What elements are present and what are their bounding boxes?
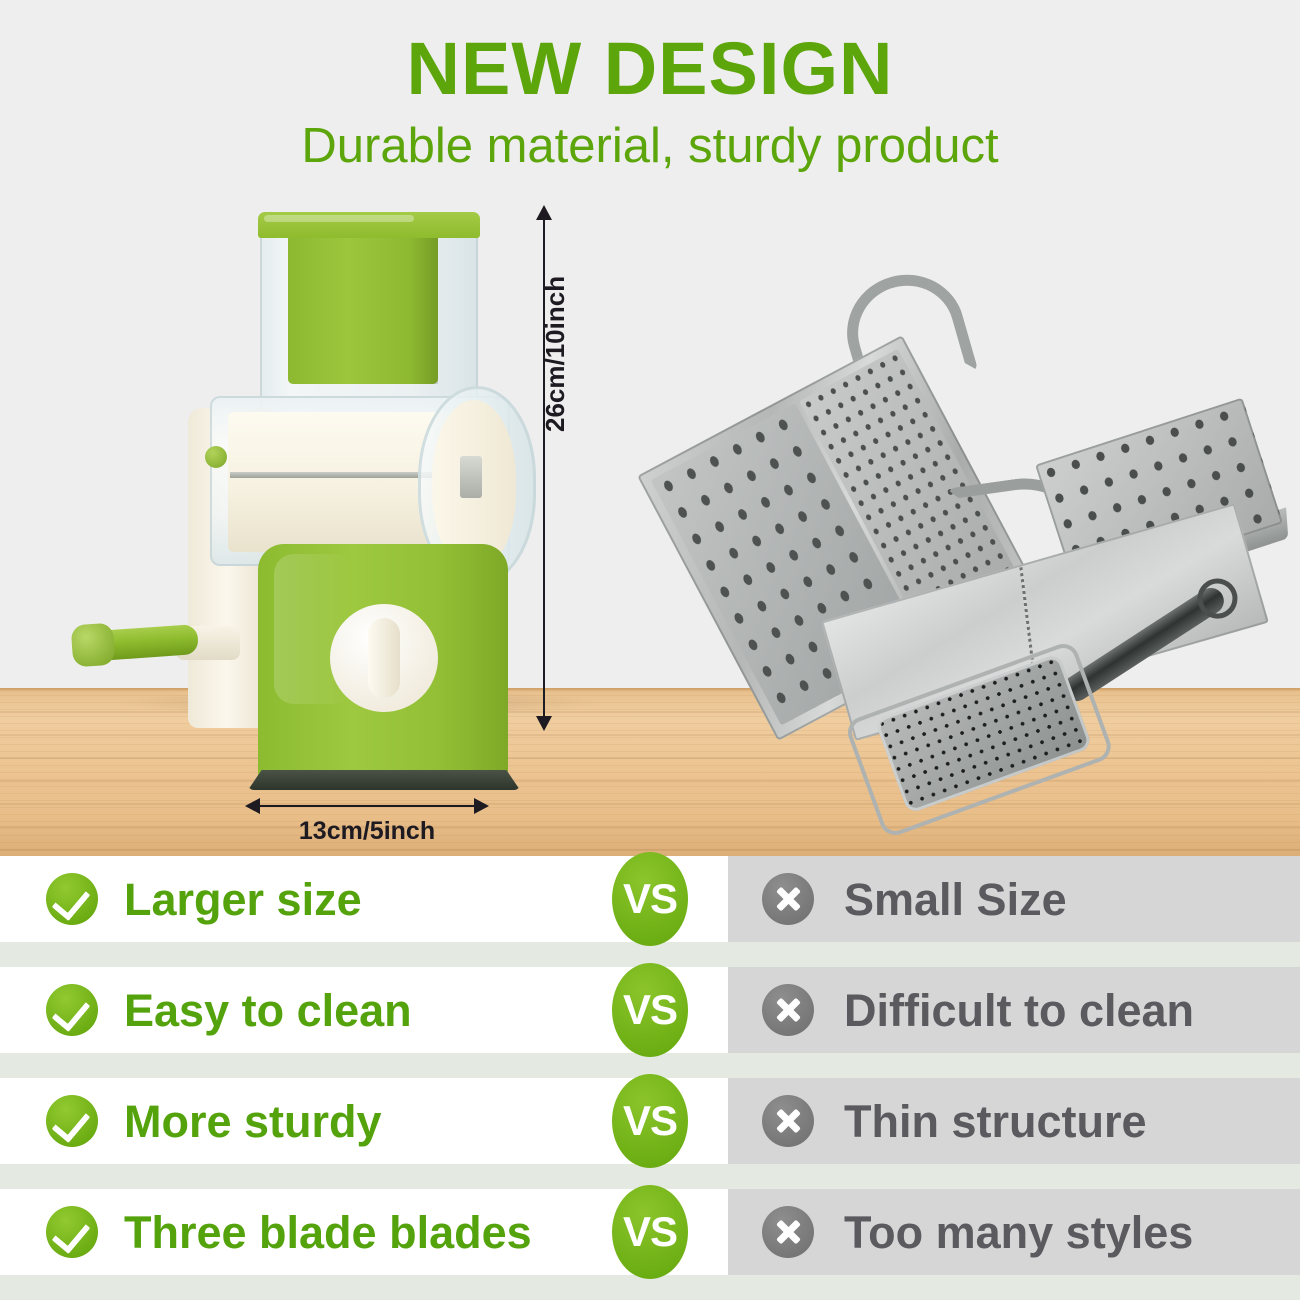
suction-knob-lever [368,618,400,698]
comparison-row-negative: Thin structure [728,1078,1300,1164]
vs-badge: VS [612,1074,688,1168]
comparison-row-negative: Small Size [728,856,1300,942]
comparison-row-negative: Difficult to clean [728,967,1300,1053]
check-icon [46,1206,98,1258]
hero-photo-panel: NEW DESIGN Durable material, sturdy prod… [0,0,1300,856]
positive-feature-label: Larger size [124,877,362,922]
positive-feature-label: More sturdy [124,1099,382,1144]
negative-feature-label: Too many styles [844,1210,1193,1255]
positive-feature-label: Easy to clean [124,988,412,1033]
vs-badge: VS [612,963,688,1057]
hopper-lid [258,212,480,238]
rotary-grater-product [60,200,540,800]
comparison-row: Difficult to cleanEasy to cleanVS [0,967,1300,1053]
page-headline: NEW DESIGN [0,32,1300,106]
crank-handle [71,623,116,668]
check-icon [46,984,98,1036]
vs-badge: VS [612,1185,688,1279]
cross-icon [762,1206,814,1258]
check-icon [46,873,98,925]
crank-pin [205,446,227,468]
negative-feature-label: Difficult to clean [844,988,1194,1033]
comparison-row-negative: Too many styles [728,1189,1300,1275]
cross-icon [762,1095,814,1147]
comparison-row: Thin structureMore sturdyVS [0,1078,1300,1164]
check-icon [46,1095,98,1147]
negative-feature-label: Thin structure [844,1099,1147,1144]
hopper-pusher [288,236,438,384]
height-dimension-label: 26cm/10inch [540,276,571,432]
drum-cap-tab [460,456,482,498]
cross-icon [762,873,814,925]
cross-icon [762,984,814,1036]
comparison-row: Small SizeLarger sizeVS [0,856,1300,942]
page-subheadline: Durable material, sturdy product [0,122,1300,171]
positive-feature-label: Three blade blades [124,1210,532,1255]
width-dimension-arrow [258,805,476,807]
vs-badge: VS [612,852,688,946]
width-dimension-label: 13cm/5inch [258,817,476,846]
negative-feature-label: Small Size [844,877,1067,922]
rubber-foot [248,770,520,790]
comparison-row: Too many stylesThree blade bladesVS [0,1189,1300,1275]
comparison-section: Small SizeLarger sizeVSDifficult to clea… [0,856,1300,1300]
